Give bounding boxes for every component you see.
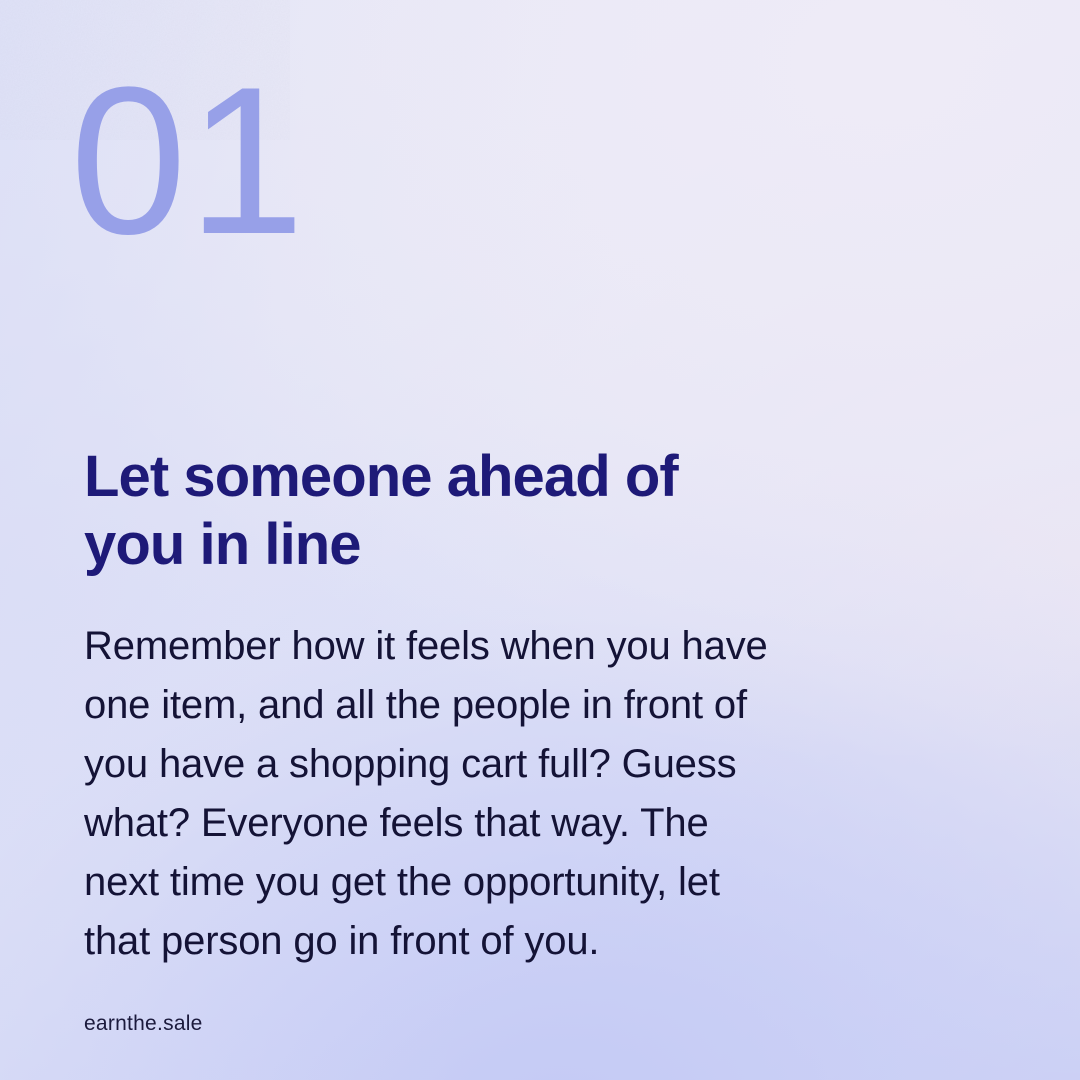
card-content: 01 Let someone ahead of you in line Reme… [0, 0, 1080, 1080]
social-card: 01 Let someone ahead of you in line Reme… [0, 0, 1080, 1080]
brand-handle: earnthe.sale [84, 1013, 203, 1034]
step-number: 01 [70, 56, 306, 266]
headline: Let someone ahead of you in line [84, 443, 784, 579]
body-paragraph: Remember how it feels when you have one … [84, 617, 814, 971]
